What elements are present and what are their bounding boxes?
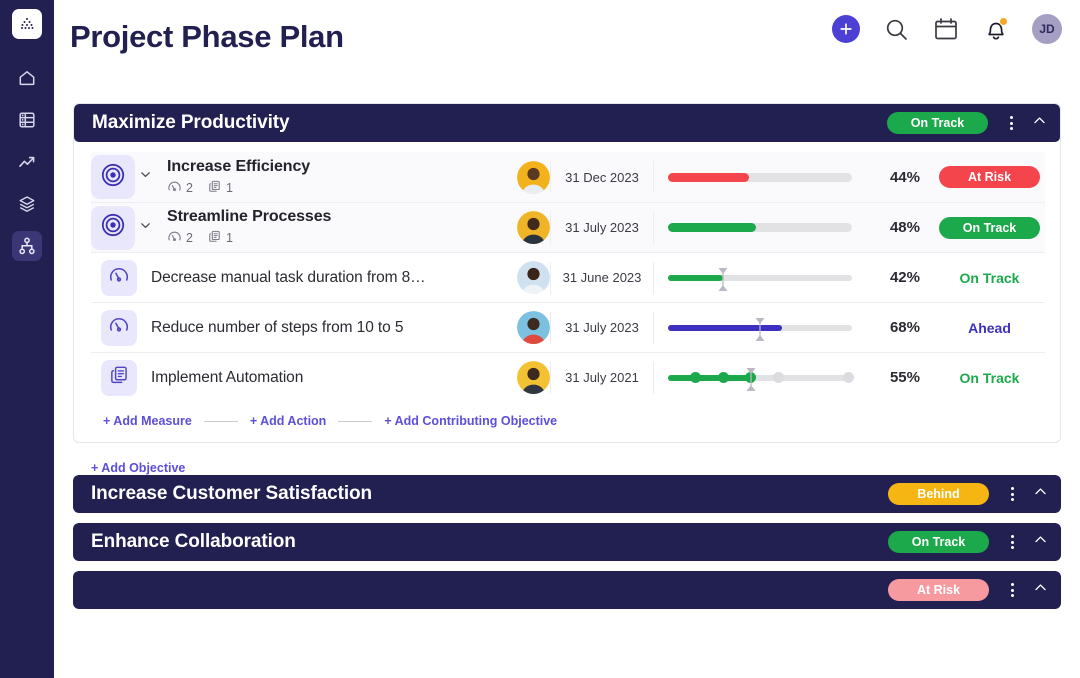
objective-card: At Risk — [73, 571, 1061, 609]
objective-header[interactable]: Maximize Productivity On Track — [74, 104, 1060, 142]
row-meta: 2 1 — [167, 229, 517, 247]
more-options-button[interactable] — [1001, 535, 1023, 549]
target-marker — [754, 316, 766, 343]
calendar-button[interactable] — [932, 15, 960, 43]
chevron-up-icon — [1033, 580, 1048, 600]
collapse-toggle[interactable] — [1029, 532, 1051, 552]
notifications-button[interactable] — [982, 15, 1010, 43]
objective-card: Increase Customer Satisfaction Behind — [73, 475, 1061, 513]
status-badge[interactable]: On Track — [887, 112, 988, 134]
row-icon-tile[interactable] — [101, 360, 137, 396]
calendar-icon — [933, 16, 959, 42]
status-badge[interactable]: On Track — [939, 217, 1040, 239]
objective-card: Enhance Collaboration On Track — [73, 523, 1061, 561]
avatar[interactable]: JD — [1032, 14, 1062, 44]
add-link[interactable]: + Add Action — [250, 414, 327, 428]
collapse-toggle[interactable] — [1029, 580, 1051, 600]
progress-cell — [654, 325, 864, 331]
action-stack-icon — [108, 364, 130, 391]
add-button[interactable] — [832, 15, 860, 43]
stack-small-icon — [207, 229, 222, 247]
row-icon-tile[interactable] — [91, 155, 135, 199]
row-owner-avatar[interactable] — [517, 261, 550, 294]
objective-row[interactable]: Reduce number of steps from 10 to 5 31 J… — [91, 302, 1045, 352]
measure-gauge-icon — [108, 314, 130, 341]
sidebar — [0, 0, 54, 678]
status-cell: At Risk — [920, 166, 1045, 188]
objective-header[interactable]: Increase Customer Satisfaction Behind — [73, 475, 1061, 513]
expand-toggle[interactable] — [137, 219, 153, 237]
row-icon-tile[interactable] — [91, 206, 135, 250]
sidebar-item-board[interactable] — [12, 105, 42, 135]
target-icon — [99, 161, 127, 194]
org-chart-icon — [17, 236, 37, 256]
progress-fill — [668, 375, 751, 381]
status-text: On Track — [960, 270, 1020, 286]
plus-icon — [839, 22, 853, 36]
add-link[interactable]: + Add Contributing Objective — [384, 414, 557, 428]
search-icon — [884, 17, 909, 42]
sidebar-item-home[interactable] — [12, 63, 42, 93]
chevron-down-icon — [139, 219, 152, 237]
status-cell: Ahead — [920, 320, 1045, 336]
app-logo[interactable] — [12, 9, 42, 39]
status-cell: On Track — [920, 217, 1045, 239]
row-percent: 44% — [864, 169, 920, 186]
row-owner-avatar[interactable] — [517, 161, 550, 194]
progress-cell — [654, 223, 864, 232]
action-count: 1 — [207, 229, 233, 247]
board-icon — [17, 110, 37, 130]
row-icon-tile[interactable] — [101, 260, 137, 296]
target-marker — [717, 266, 729, 293]
row-due-date: 31 July 2023 — [550, 212, 654, 244]
link-divider — [204, 421, 238, 422]
link-divider — [338, 421, 372, 422]
layers-icon — [17, 194, 37, 214]
more-options-button[interactable] — [1001, 487, 1023, 501]
progress-fill — [668, 223, 756, 232]
add-link[interactable]: + Add Measure — [103, 414, 192, 428]
trending-up-icon — [17, 152, 37, 172]
stack-small-icon — [207, 179, 222, 197]
objective-body: Increase Efficiency 2 1 31 Dec 2023 44% … — [74, 142, 1060, 442]
chevron-up-icon — [1032, 113, 1047, 133]
measure-count-value: 2 — [186, 181, 193, 195]
measure-count-value: 2 — [186, 231, 193, 245]
header-actions: JD — [832, 14, 1062, 44]
measure-gauge-icon — [108, 264, 130, 291]
sidebar-item-analytics[interactable] — [12, 147, 42, 177]
objective-card: Maximize Productivity On Track Increase … — [73, 103, 1061, 443]
objective-row[interactable]: Increase Efficiency 2 1 31 Dec 2023 44% … — [91, 152, 1045, 202]
progress-track[interactable] — [668, 275, 852, 281]
page-header: Project Phase Plan — [54, 0, 1080, 80]
measure-count: 2 — [167, 179, 193, 197]
progress-cell — [654, 173, 864, 182]
collapse-toggle[interactable] — [1028, 113, 1050, 133]
objective-header[interactable]: At Risk — [73, 571, 1061, 609]
row-percent: 55% — [864, 369, 920, 386]
add-links: + Add Measure+ Add Action+ Add Contribut… — [91, 402, 1045, 430]
objective-title: Maximize Productivity — [92, 112, 887, 134]
target-icon — [99, 211, 127, 244]
action-count: 1 — [207, 179, 233, 197]
more-options-button[interactable] — [1000, 116, 1022, 130]
row-title: Implement Automation — [151, 369, 517, 387]
progress-track[interactable] — [668, 325, 852, 331]
row-due-date: 31 July 2021 — [550, 362, 654, 394]
row-meta: 2 1 — [167, 179, 517, 197]
meter-small-icon — [167, 229, 182, 247]
home-icon — [17, 68, 37, 88]
row-title: Decrease manual task duration from 8… — [151, 269, 517, 287]
more-options-button[interactable] — [1001, 583, 1023, 597]
chevron-down-icon — [139, 168, 152, 186]
status-badge[interactable]: On Track — [888, 531, 989, 553]
milestone-dot[interactable] — [718, 372, 729, 383]
progress-track[interactable] — [668, 375, 852, 381]
row-owner-avatar[interactable] — [517, 211, 550, 244]
expand-toggle[interactable] — [137, 168, 153, 186]
page-title: Project Phase Plan — [70, 19, 344, 55]
objective-title: Increase Customer Satisfaction — [91, 483, 888, 505]
row-percent: 68% — [864, 319, 920, 336]
chevron-up-icon — [1033, 532, 1048, 552]
objectives-list: Maximize Productivity On Track Increase … — [73, 103, 1061, 619]
target-marker — [745, 366, 757, 393]
status-text: On Track — [960, 370, 1020, 386]
row-due-date: 31 June 2023 — [550, 262, 654, 294]
action-count-value: 1 — [226, 181, 233, 195]
row-due-date: 31 July 2023 — [550, 312, 654, 344]
row-owner-avatar[interactable] — [517, 311, 550, 344]
progress-track[interactable] — [668, 223, 852, 232]
progress-track[interactable] — [668, 173, 852, 182]
sidebar-item-objectives[interactable] — [12, 231, 42, 261]
row-title: Increase Efficiency — [167, 158, 517, 176]
milestone-dot[interactable] — [690, 372, 701, 383]
objective-row[interactable]: Streamline Processes 2 1 31 July 2023 48… — [91, 202, 1045, 252]
status-badge[interactable]: Behind — [888, 483, 989, 505]
action-count-value: 1 — [226, 231, 233, 245]
objective-title: Enhance Collaboration — [91, 531, 888, 553]
status-badge[interactable]: At Risk — [888, 579, 989, 601]
row-main: Decrease manual task duration from 8… — [137, 269, 517, 287]
chevron-up-icon — [1033, 484, 1048, 504]
collapse-toggle[interactable] — [1029, 484, 1051, 504]
objective-row[interactable]: Implement Automation 31 July 2021 55% On… — [91, 352, 1045, 402]
row-main: Streamline Processes 2 1 — [153, 208, 517, 247]
add-objective-link[interactable]: + Add Objective — [73, 453, 1061, 475]
search-button[interactable] — [882, 15, 910, 43]
notification-badge-dot — [999, 17, 1008, 26]
objective-header[interactable]: Enhance Collaboration On Track — [73, 523, 1061, 561]
row-title: Streamline Processes — [167, 208, 517, 226]
row-owner-avatar[interactable] — [517, 361, 550, 394]
objective-row[interactable]: Decrease manual task duration from 8… 31… — [91, 252, 1045, 302]
progress-fill — [668, 173, 749, 182]
status-text: Ahead — [968, 320, 1011, 336]
row-title: Reduce number of steps from 10 to 5 — [151, 319, 517, 337]
milestone-dot[interactable] — [773, 372, 784, 383]
progress-cell — [654, 375, 864, 381]
meter-small-icon — [167, 179, 182, 197]
row-main: Reduce number of steps from 10 to 5 — [137, 319, 517, 337]
row-due-date: 31 Dec 2023 — [550, 161, 654, 193]
measure-count: 2 — [167, 229, 193, 247]
row-percent: 48% — [864, 219, 920, 236]
progress-fill — [668, 275, 723, 281]
row-icon-tile[interactable] — [101, 310, 137, 346]
row-main: Increase Efficiency 2 1 — [153, 158, 517, 197]
status-badge[interactable]: At Risk — [939, 166, 1040, 188]
status-cell: On Track — [920, 370, 1045, 386]
grid-logo-icon — [19, 16, 35, 32]
status-cell: On Track — [920, 270, 1045, 286]
row-main: Implement Automation — [137, 369, 517, 387]
sidebar-item-layers[interactable] — [12, 189, 42, 219]
progress-cell — [654, 275, 864, 281]
row-percent: 42% — [864, 269, 920, 286]
milestone-dot[interactable] — [843, 372, 854, 383]
